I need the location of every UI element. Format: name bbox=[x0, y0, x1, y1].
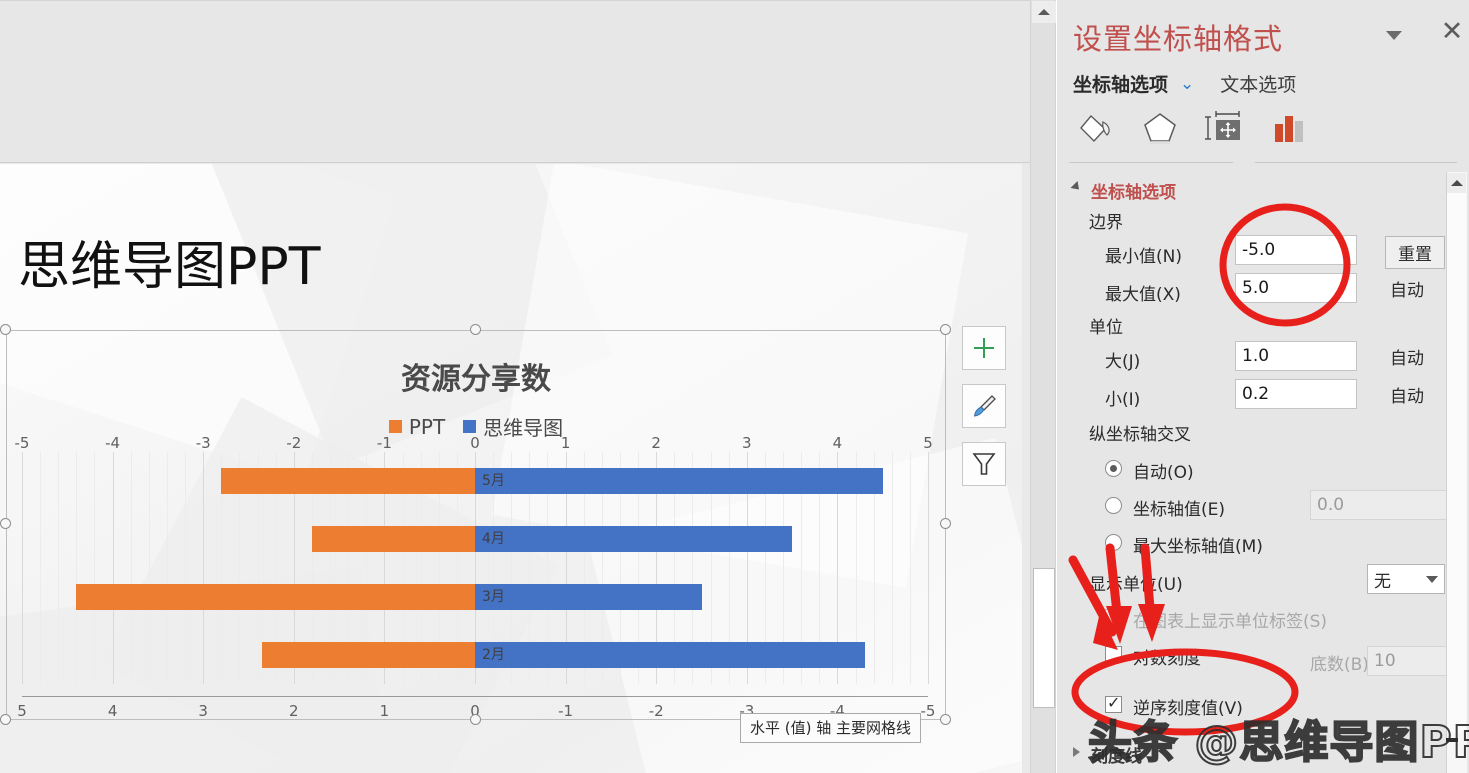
group-label-units: 单位 bbox=[1089, 313, 1123, 338]
size-and-properties-button[interactable] bbox=[1201, 106, 1247, 150]
label-major-unit: 大(J) bbox=[1105, 347, 1140, 372]
pane-close-button[interactable]: ✕ bbox=[1437, 16, 1467, 46]
value-axis-tick-label: 1 bbox=[561, 434, 571, 452]
chart-title[interactable]: 资源分享数 bbox=[6, 354, 946, 398]
group-label-vertical-axis-crosses: 纵坐标轴交叉 bbox=[1089, 420, 1191, 445]
label-minimum: 最小值(N) bbox=[1105, 242, 1182, 267]
minor-gridline bbox=[149, 452, 150, 684]
value-axis-tick-label-reversed: 1 bbox=[380, 702, 390, 720]
tab-text-options[interactable]: 文本选项 bbox=[1220, 70, 1296, 97]
radio-axis-value[interactable] bbox=[1105, 497, 1122, 514]
axis-value-input[interactable]: 0.0 bbox=[1310, 490, 1450, 520]
pane-scrollbar-thumb[interactable] bbox=[1447, 193, 1466, 733]
minor-gridline bbox=[131, 452, 132, 684]
minor-gridline bbox=[58, 452, 59, 684]
value-axis-tick-label-reversed: 5 bbox=[17, 702, 27, 720]
fill-icon bbox=[1075, 108, 1117, 148]
display-units-select[interactable]: 无 bbox=[1367, 564, 1445, 594]
pane-body: 坐标轴选项 边界 最小值(N) -5.0 重置 最大值(X) 5.0 自动 单位… bbox=[1057, 172, 1469, 773]
value-axis-tick-label: -3 bbox=[196, 434, 211, 452]
minimum-input[interactable]: -5.0 bbox=[1235, 235, 1357, 265]
chart-styles-button[interactable] bbox=[962, 384, 1006, 428]
chart-elements-button[interactable] bbox=[962, 326, 1006, 370]
axis-options-button[interactable] bbox=[1265, 106, 1311, 150]
slide-vertical-scrollbar[interactable] bbox=[1030, 0, 1056, 773]
display-units-value: 无 bbox=[1374, 567, 1391, 592]
chevron-down-icon[interactable]: ⌄ bbox=[1180, 74, 1194, 94]
value-axis-tick-label-reversed: -5 bbox=[921, 702, 936, 720]
minor-unit-input[interactable]: 0.2 bbox=[1235, 379, 1357, 409]
value-axis-tick-label-reversed: -2 bbox=[649, 702, 664, 720]
value-axis-tick-label: -4 bbox=[105, 434, 120, 452]
minor-gridline bbox=[167, 452, 168, 684]
auto-maximum-label[interactable]: 自动 bbox=[1390, 276, 1424, 301]
size-properties-icon bbox=[1203, 108, 1245, 148]
value-axis-tick-label: 0 bbox=[470, 434, 480, 452]
format-axis-pane: 设置坐标轴格式 ✕ 坐标轴选项 ⌄ 文本选项 bbox=[1057, 0, 1469, 773]
plus-icon bbox=[971, 335, 997, 361]
resize-handle-ne[interactable] bbox=[940, 324, 951, 335]
bar-segment-negative[interactable] bbox=[262, 642, 475, 668]
group-label-bounds: 边界 bbox=[1089, 208, 1123, 233]
minor-gridline bbox=[910, 452, 911, 684]
pane-icon-bar[interactable] bbox=[1073, 106, 1311, 150]
bar-segment-negative[interactable] bbox=[221, 468, 475, 494]
auto-major-unit-label[interactable]: 自动 bbox=[1390, 344, 1424, 369]
minor-gridline bbox=[892, 452, 893, 684]
value-axis-tick-label: 4 bbox=[833, 434, 843, 452]
scrollbar-thumb[interactable] bbox=[1033, 568, 1055, 708]
label-minor-unit: 小(I) bbox=[1105, 385, 1140, 410]
legend-swatch-orange bbox=[389, 420, 402, 433]
value-axis-tick-label: 3 bbox=[742, 434, 752, 452]
logarithmic-scale-label[interactable]: 对数刻度 bbox=[1133, 644, 1201, 669]
bar-segment-positive[interactable] bbox=[475, 584, 702, 610]
log-base-input[interactable]: 10 bbox=[1367, 646, 1451, 676]
radio-automatic[interactable] bbox=[1105, 460, 1122, 477]
bar-segment-positive[interactable] bbox=[475, 468, 883, 494]
radio-label-axis-value[interactable]: 坐标轴值(E) bbox=[1133, 495, 1225, 520]
pane-tabs[interactable]: 坐标轴选项 ⌄ 文本选项 bbox=[1073, 70, 1296, 97]
value-axis-tick-label-reversed: 4 bbox=[108, 702, 118, 720]
value-axis-tick-label-reversed: 2 bbox=[289, 702, 299, 720]
minor-gridline bbox=[94, 452, 95, 684]
tab-axis-options[interactable]: 坐标轴选项 bbox=[1073, 70, 1168, 97]
slide-top-band bbox=[0, 0, 1030, 163]
pane-title: 设置坐标轴格式 bbox=[1073, 16, 1283, 58]
category-axis-line[interactable] bbox=[22, 696, 928, 697]
axis-options-icon bbox=[1267, 108, 1309, 148]
watermark: 头条 @思维导图PPT bbox=[1088, 706, 1469, 770]
pane-active-notch bbox=[1233, 153, 1255, 163]
logarithmic-scale-checkbox[interactable] bbox=[1105, 646, 1122, 663]
slide-title[interactable]: 思维导图PPT bbox=[18, 224, 320, 299]
effects-icon bbox=[1139, 108, 1181, 148]
major-gridline[interactable] bbox=[203, 452, 204, 684]
paintbrush-icon bbox=[970, 392, 998, 420]
minor-gridline bbox=[76, 452, 77, 684]
bar-segment-negative[interactable] bbox=[76, 584, 475, 610]
close-icon: ✕ bbox=[1441, 18, 1464, 45]
resize-handle-sw[interactable] bbox=[0, 714, 11, 725]
radio-label-maximum-axis-value[interactable]: 最大坐标轴值(M) bbox=[1133, 532, 1263, 557]
radio-label-automatic[interactable]: 自动(O) bbox=[1133, 458, 1194, 483]
resize-handle-e[interactable] bbox=[940, 518, 951, 529]
chevron-down-icon bbox=[1426, 576, 1438, 583]
maximum-input[interactable]: 5.0 bbox=[1235, 273, 1357, 303]
value-axis-tick-label: 2 bbox=[651, 434, 661, 452]
resize-handle-s[interactable] bbox=[470, 714, 481, 725]
triangle-up-icon bbox=[1451, 180, 1463, 186]
value-axis-tick-label: -1 bbox=[377, 434, 392, 452]
chart-side-buttons[interactable] bbox=[962, 326, 1006, 500]
reset-minimum-button[interactable]: 重置 bbox=[1385, 236, 1445, 269]
chart-object[interactable]: 资源分享数 PPT 思维导图 -5-4-3-2-1012345 5月4月3月2月… bbox=[6, 330, 946, 720]
resize-handle-se[interactable] bbox=[940, 714, 951, 725]
resize-handle-w[interactable] bbox=[0, 518, 11, 529]
radio-maximum-axis-value[interactable] bbox=[1105, 534, 1122, 551]
bar-segment-negative[interactable] bbox=[312, 526, 475, 552]
bar-segment-positive[interactable] bbox=[475, 642, 865, 668]
major-gridline[interactable] bbox=[113, 452, 114, 684]
value-axis-tick-label: 5 bbox=[923, 434, 933, 452]
value-axis-tick-label-reversed: 3 bbox=[198, 702, 208, 720]
value-axis-tick-label: -2 bbox=[286, 434, 301, 452]
chart-plot-area[interactable]: 5月4月3月2月 bbox=[22, 452, 928, 684]
section-collapse-triangle[interactable] bbox=[1070, 181, 1082, 193]
legend-swatch-blue bbox=[463, 420, 476, 433]
chevron-down-icon bbox=[1386, 31, 1402, 40]
pane-divider bbox=[1069, 162, 1457, 163]
fill-and-line-button[interactable] bbox=[1073, 106, 1119, 150]
label-display-units: 显示单位(U) bbox=[1089, 570, 1183, 595]
value-axis-tick-label-reversed: -1 bbox=[558, 702, 573, 720]
pane-menu-button[interactable] bbox=[1382, 24, 1406, 46]
value-axis-tick-label: -5 bbox=[15, 434, 30, 452]
funnel-icon bbox=[971, 450, 997, 478]
show-display-units-label-checkbox[interactable] bbox=[1105, 609, 1122, 626]
label-maximum: 最大值(X) bbox=[1105, 280, 1181, 305]
value-axis-top-labels[interactable]: -5-4-3-2-1012345 bbox=[22, 434, 928, 454]
bar-segment-positive[interactable] bbox=[475, 526, 792, 552]
tick-marks-collapse-triangle[interactable] bbox=[1073, 747, 1080, 757]
triangle-up-icon bbox=[1038, 9, 1050, 15]
show-display-units-label-text[interactable]: 在图表上显示单位标签(S) bbox=[1133, 607, 1327, 632]
auto-minor-unit-label[interactable]: 自动 bbox=[1390, 382, 1424, 407]
major-gridline[interactable] bbox=[928, 452, 929, 684]
slide-editing-surface: 思维导图PPT 资源分享数 PPT 思维导图 bbox=[0, 0, 1030, 773]
resize-handle-nw[interactable] bbox=[0, 324, 11, 335]
effects-button[interactable] bbox=[1137, 106, 1183, 150]
chart-filters-button[interactable] bbox=[962, 442, 1006, 486]
minor-gridline bbox=[40, 452, 41, 684]
major-unit-input[interactable]: 1.0 bbox=[1235, 341, 1357, 371]
scroll-up-button[interactable] bbox=[1032, 1, 1056, 23]
major-gridline[interactable] bbox=[22, 452, 23, 684]
pane-scroll-up-button[interactable] bbox=[1447, 173, 1466, 193]
section-heading-axis-options[interactable]: 坐标轴选项 bbox=[1091, 178, 1176, 203]
gridline-tooltip: 水平 (值) 轴 主要网格线 bbox=[740, 713, 921, 743]
resize-handle-n[interactable] bbox=[470, 324, 481, 335]
log-base-label: 底数(B) bbox=[1310, 650, 1369, 675]
minor-gridline bbox=[185, 452, 186, 684]
